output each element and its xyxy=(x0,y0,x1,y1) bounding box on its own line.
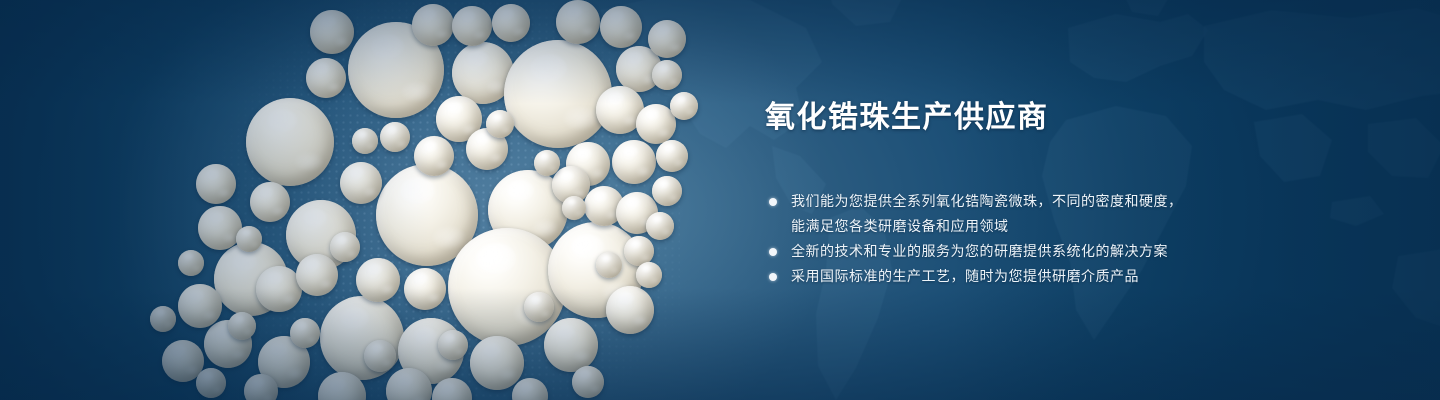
bullet-dot-icon xyxy=(769,198,777,206)
list-item: 我们能为您提供全系列氧化锆陶瓷微珠，不同的密度和硬度， 能满足您各类研磨设备和应… xyxy=(765,189,1385,239)
banner-copy: 氧化锆珠生产供应商 我们能为您提供全系列氧化锆陶瓷微珠，不同的密度和硬度， 能满… xyxy=(765,100,1385,289)
bullet-dot-icon xyxy=(769,273,777,281)
list-item: 全新的技术和专业的服务为您的研磨提供系统化的解决方案 xyxy=(765,239,1385,264)
page-title: 氧化锆珠生产供应商 xyxy=(765,100,1385,137)
hero-banner: 氧化锆珠生产供应商 我们能为您提供全系列氧化锆陶瓷微珠，不同的密度和硬度， 能满… xyxy=(0,0,1440,400)
feature-line-1b: 能满足您各类研磨设备和应用领域 xyxy=(791,218,1009,234)
feature-line-3: 采用国际标准的生产工艺，随时为您提供研磨介质产品 xyxy=(791,268,1139,284)
feature-line-1a: 我们能为您提供全系列氧化锆陶瓷微珠，不同的密度和硬度， xyxy=(791,193,1183,209)
feature-list: 我们能为您提供全系列氧化锆陶瓷微珠，不同的密度和硬度， 能满足您各类研磨设备和应… xyxy=(765,189,1385,289)
feature-line-2: 全新的技术和专业的服务为您的研磨提供系统化的解决方案 xyxy=(791,243,1168,259)
bullet-dot-icon xyxy=(769,248,777,256)
list-item: 采用国际标准的生产工艺，随时为您提供研磨介质产品 xyxy=(765,264,1385,289)
